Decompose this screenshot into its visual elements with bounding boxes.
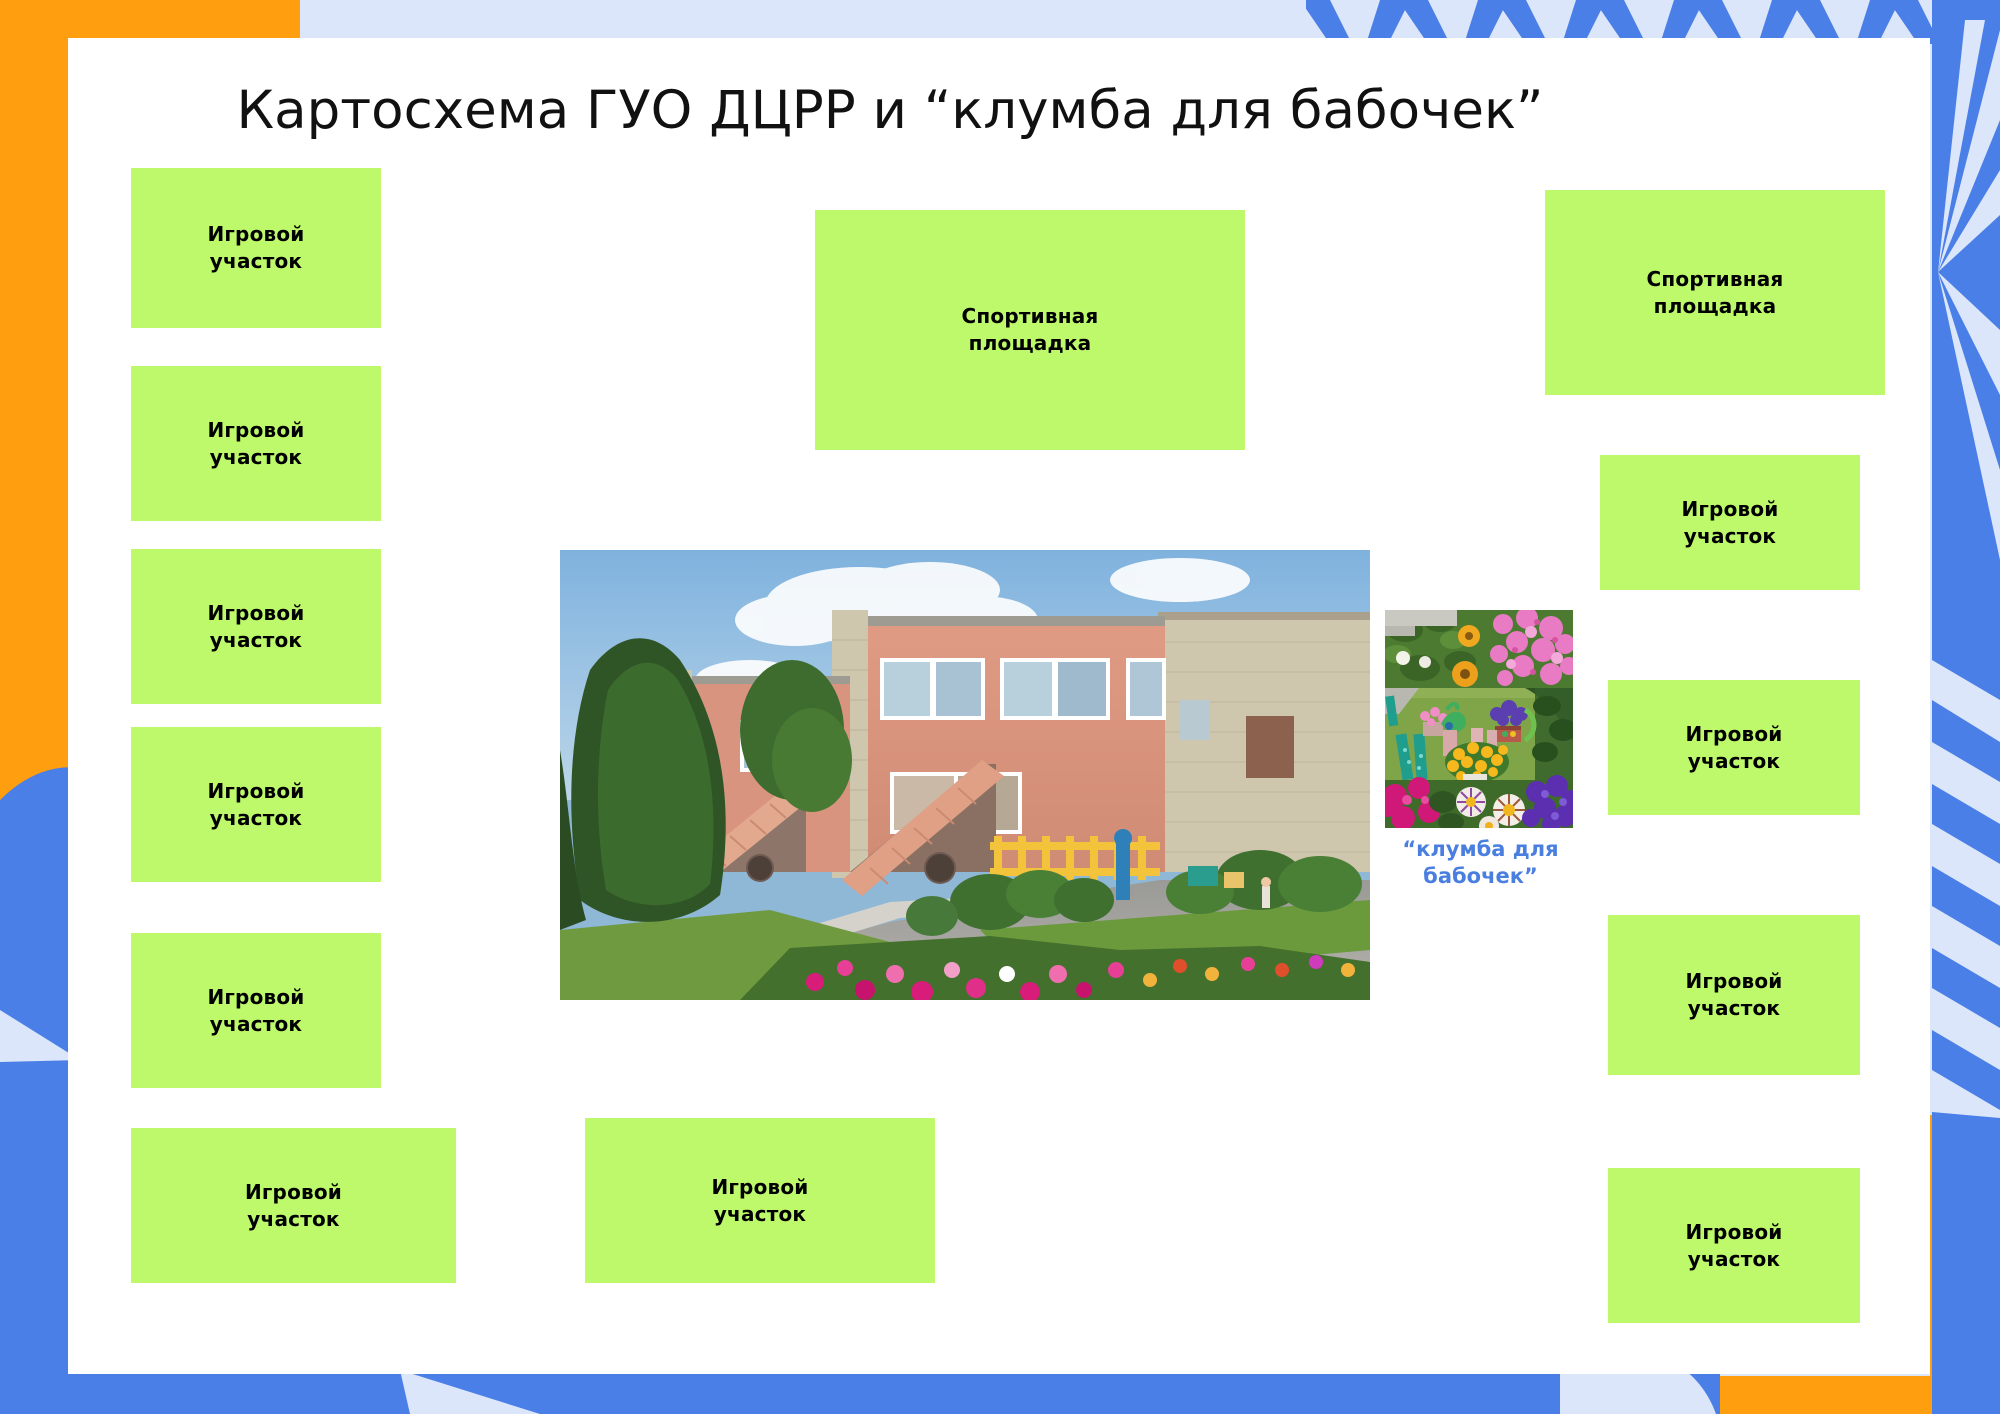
play-area-right-4-label: Игровой участок <box>1685 1219 1782 1273</box>
play-area-left-3[interactable]: Игровой участок <box>131 549 381 704</box>
building-photo <box>560 550 1370 1000</box>
play-area-right-3-label: Игровой участок <box>1685 968 1782 1022</box>
play-area-left-3-label: Игровой участок <box>207 600 304 654</box>
play-area-left-5[interactable]: Игровой участок <box>131 933 381 1088</box>
play-area-left-4[interactable]: Игровой участок <box>131 727 381 882</box>
play-area-right-2[interactable]: Игровой участок <box>1608 680 1860 815</box>
chevron-pattern-right <box>1932 0 2000 1414</box>
play-area-right-1[interactable]: Игровой участок <box>1600 455 1860 590</box>
butterfly-garden-photo <box>1385 610 1573 828</box>
play-area-left-2[interactable]: Игровой участок <box>131 366 381 521</box>
butterfly-garden-caption: “клумба для бабочек” <box>1368 836 1593 891</box>
play-area-right-4[interactable]: Игровой участок <box>1608 1168 1860 1323</box>
sports-ground-right[interactable]: Спортивная площадка <box>1545 190 1885 395</box>
play-area-left-2-label: Игровой участок <box>207 417 304 471</box>
play-area-bottom-2-label: Игровой участок <box>711 1174 808 1228</box>
play-area-bottom-1-label: Игровой участок <box>245 1179 342 1233</box>
sports-ground-center[interactable]: Спортивная площадка <box>815 210 1245 450</box>
play-area-right-2-label: Игровой участок <box>1685 721 1782 775</box>
play-area-bottom-1[interactable]: Игровой участок <box>131 1128 456 1283</box>
play-area-left-1[interactable]: Игровой участок <box>131 168 381 328</box>
sports-ground-right-label: Спортивная площадка <box>1647 266 1784 320</box>
play-area-left-4-label: Игровой участок <box>207 778 304 832</box>
sports-ground-center-label: Спортивная площадка <box>962 303 1099 357</box>
play-area-left-1-label: Игровой участок <box>207 221 304 275</box>
orange-bar-left <box>0 0 68 300</box>
play-area-right-1-label: Игровой участок <box>1681 496 1778 550</box>
play-area-left-5-label: Игровой участок <box>207 984 304 1038</box>
page-title: Картосхема ГУО ДЦРР и “клумба для бабоче… <box>180 82 1600 140</box>
orange-bar-top <box>0 0 300 38</box>
play-area-bottom-2[interactable]: Игровой участок <box>585 1118 935 1283</box>
play-area-right-3[interactable]: Игровой участок <box>1608 915 1860 1075</box>
